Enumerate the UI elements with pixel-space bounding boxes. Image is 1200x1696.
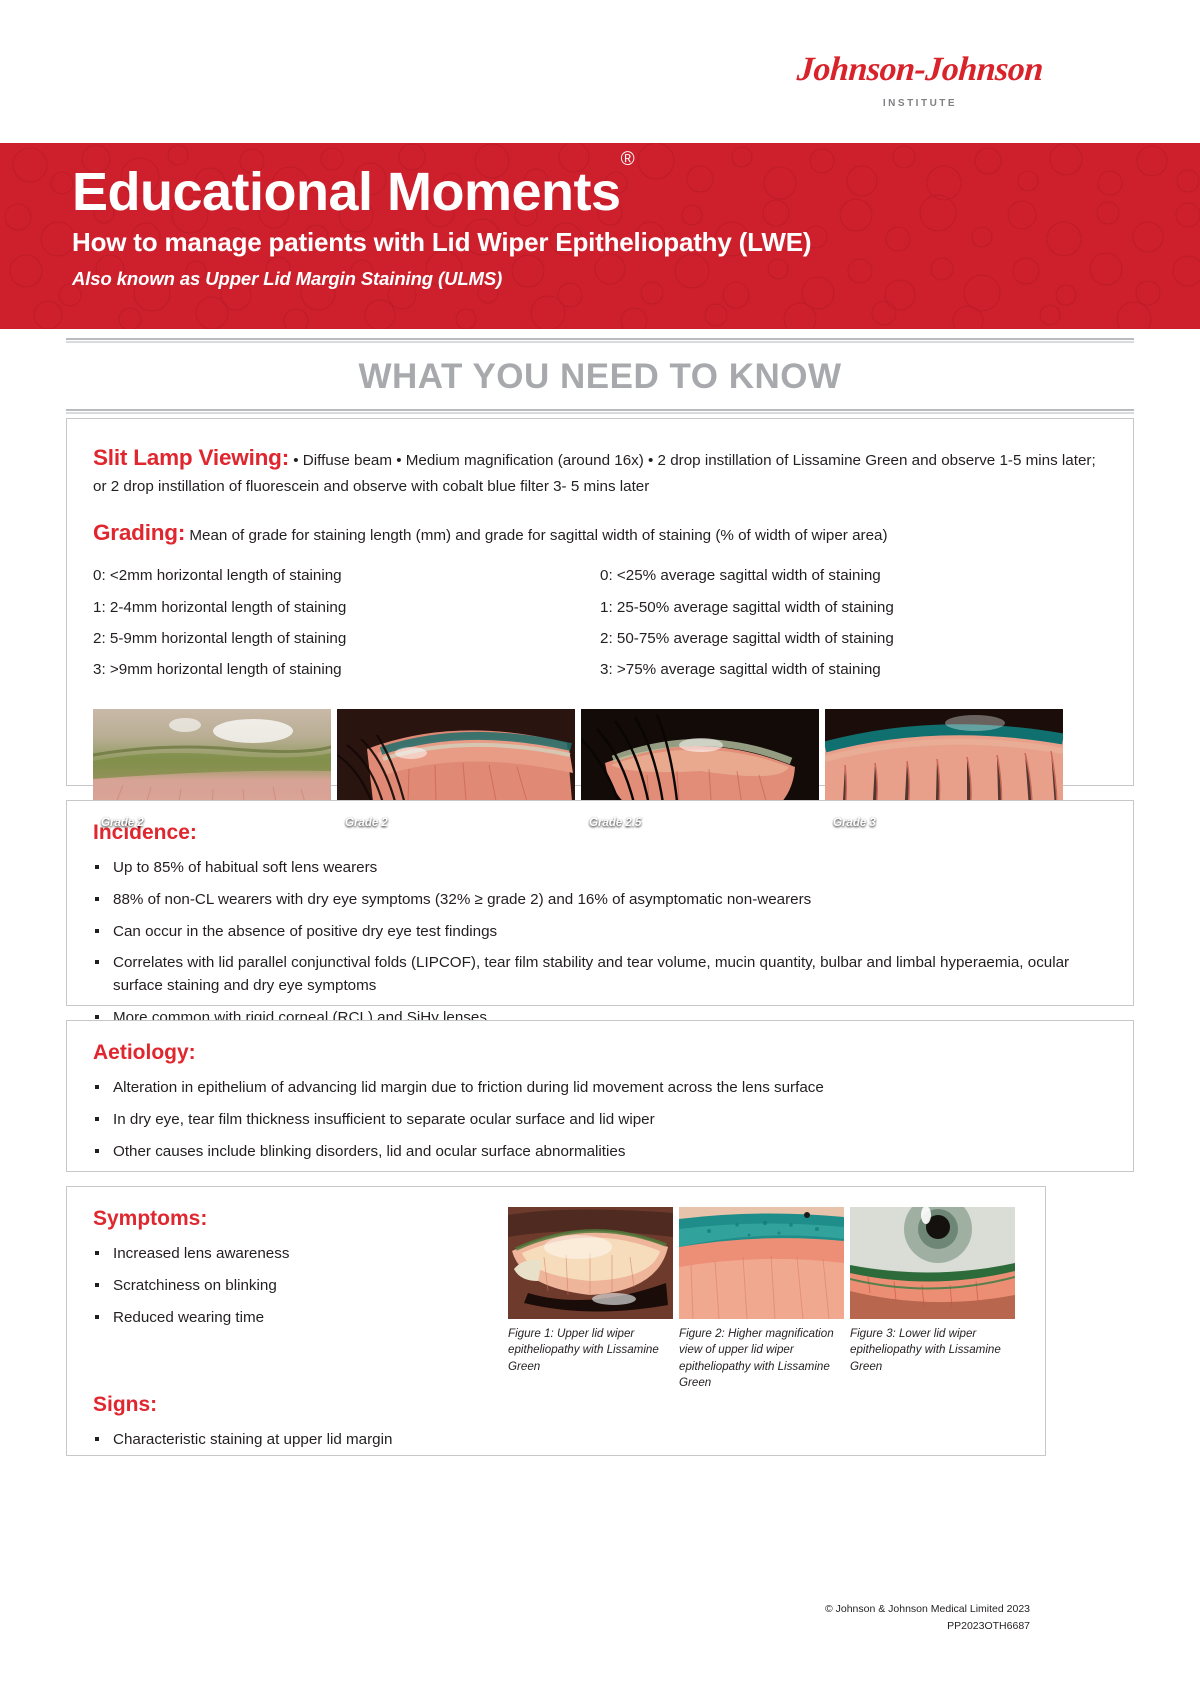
signs-list: Characteristic staining at upper lid mar… bbox=[93, 1429, 508, 1452]
grade-width-2: 2: 50-75% average sagittal width of stai… bbox=[600, 631, 1107, 662]
grading-photo-2-caption: Grade 2 bbox=[345, 817, 388, 829]
grading-length-column: 0: <2mm horizontal length of staining 1:… bbox=[93, 568, 600, 693]
grade-length-1: 1: 2-4mm horizontal length of staining bbox=[93, 600, 600, 631]
figure-3-caption: Figure 3: Lower lid wiper epitheliopathy… bbox=[850, 1326, 1015, 1375]
page-title: Educational Moments® bbox=[72, 163, 1200, 221]
list-item: Up to 85% of habitual soft lens wearers bbox=[93, 857, 1107, 880]
list-item: Increased lens awareness bbox=[93, 1243, 508, 1266]
list-item: Characteristic staining at upper lid mar… bbox=[93, 1429, 508, 1452]
card-slit-lamp-grading: Slit Lamp Viewing: • Diffuse beam • Medi… bbox=[66, 418, 1134, 786]
figure-1-image bbox=[508, 1207, 673, 1319]
section-heading: WHAT YOU NEED TO KNOW bbox=[66, 343, 1134, 409]
symptoms-heading: Symptoms: bbox=[93, 1207, 508, 1231]
figures-column: Figure 1: Upper lid wiper epitheliopathy… bbox=[508, 1207, 1019, 1461]
figure-row: Figure 1: Upper lid wiper epitheliopathy… bbox=[508, 1207, 1019, 1392]
page-title-text: Educational Moments bbox=[72, 162, 621, 222]
list-item: Reduced wearing time bbox=[93, 1307, 508, 1330]
institute-label: INSTITUTE bbox=[790, 98, 1050, 109]
page-banner: Educational Moments® How to manage patie… bbox=[0, 143, 1200, 329]
figure-1: Figure 1: Upper lid wiper epitheliopathy… bbox=[508, 1207, 673, 1392]
list-item: In dry eye, tear film thickness insuffic… bbox=[93, 1109, 1107, 1132]
list-item: Alteration in epithelium of advancing li… bbox=[93, 1077, 1107, 1100]
figure-1-caption: Figure 1: Upper lid wiper epitheliopathy… bbox=[508, 1326, 673, 1375]
johnson-and-johnson-wordmark: Johnson-Johnson bbox=[789, 52, 1051, 88]
figure-3: Figure 3: Lower lid wiper epitheliopathy… bbox=[850, 1207, 1015, 1392]
registered-mark: ® bbox=[621, 149, 635, 170]
list-item: 88% of non-CL wearers with dry eye sympt… bbox=[93, 889, 1107, 912]
footer-code: PP2023OTH6687 bbox=[0, 1618, 1200, 1634]
symptoms-list: Increased lens awareness Scratchiness on… bbox=[93, 1243, 508, 1329]
eye-photo-lower-lid-wiper bbox=[850, 1207, 1015, 1319]
grade-length-3: 3: >9mm horizontal length of staining bbox=[93, 662, 600, 693]
eye-photo-upper-lid-wiper bbox=[508, 1207, 673, 1319]
list-item: Scratchiness on blinking bbox=[93, 1275, 508, 1298]
grading-photo-1-caption: Grade 2 bbox=[101, 817, 144, 829]
footer-copyright: © Johnson & Johnson Medical Limited 2023 bbox=[0, 1601, 1200, 1617]
aetiology-heading: Aetiology: bbox=[93, 1041, 1107, 1065]
symptoms-signs-text-column: Symptoms: Increased lens awareness Scrat… bbox=[93, 1207, 508, 1461]
footer: © Johnson & Johnson Medical Limited 2023… bbox=[0, 1601, 1200, 1634]
figure-2-image bbox=[679, 1207, 844, 1319]
card-aetiology: Aetiology: Alteration in epithelium of a… bbox=[66, 1020, 1134, 1172]
figure-2: Figure 2: Higher magnification view of u… bbox=[679, 1207, 844, 1392]
figure-3-image bbox=[850, 1207, 1015, 1319]
grade-length-2: 2: 5-9mm horizontal length of staining bbox=[93, 631, 600, 662]
card-symptoms-signs: Symptoms: Increased lens awareness Scrat… bbox=[66, 1186, 1046, 1456]
grading-paragraph: Grading: Mean of grade for staining leng… bbox=[93, 516, 1107, 550]
grade-length-0: 0: <2mm horizontal length of staining bbox=[93, 568, 600, 599]
figure-2-caption: Figure 2: Higher magnification view of u… bbox=[679, 1326, 844, 1392]
slit-lamp-paragraph: Slit Lamp Viewing: • Diffuse beam • Medi… bbox=[93, 441, 1107, 498]
divider-bottom bbox=[66, 409, 1134, 414]
grading-heading: Grading: bbox=[93, 520, 185, 545]
grading-photo-4-caption: Grade 3 bbox=[833, 817, 876, 829]
grade-width-3: 3: >75% average sagittal width of staini… bbox=[600, 662, 1107, 693]
incidence-list: Up to 85% of habitual soft lens wearers … bbox=[93, 857, 1107, 1030]
grading-scales: 0: <2mm horizontal length of staining 1:… bbox=[93, 568, 1107, 693]
brand-logo: Johnson-Johnson INSTITUTE bbox=[790, 52, 1050, 109]
page-alt-title: Also known as Upper Lid Margin Staining … bbox=[72, 268, 1200, 290]
grade-width-1: 1: 25-50% average sagittal width of stai… bbox=[600, 600, 1107, 631]
grading-text: Mean of grade for staining length (mm) a… bbox=[189, 527, 887, 544]
grade-width-0: 0: <25% average sagittal width of staini… bbox=[600, 568, 1107, 599]
grading-photo-3-caption: Grade 2.5 bbox=[589, 817, 641, 829]
grading-width-column: 0: <25% average sagittal width of staini… bbox=[600, 568, 1107, 693]
eye-photo-high-magnification bbox=[679, 1207, 844, 1319]
list-item: Correlates with lid parallel conjunctiva… bbox=[93, 952, 1107, 998]
signs-heading: Signs: bbox=[93, 1393, 508, 1417]
aetiology-list: Alteration in epithelium of advancing li… bbox=[93, 1077, 1107, 1163]
list-item: Other causes include blinking disorders,… bbox=[93, 1141, 1107, 1164]
list-item: Can occur in the absence of positive dry… bbox=[93, 921, 1107, 944]
slit-lamp-heading: Slit Lamp Viewing: bbox=[93, 445, 289, 470]
page-subtitle: How to manage patients with Lid Wiper Ep… bbox=[72, 227, 1200, 258]
card-incidence: Incidence: Up to 85% of habitual soft le… bbox=[66, 800, 1134, 1006]
what-you-need-to-know-block: WHAT YOU NEED TO KNOW bbox=[66, 338, 1134, 414]
